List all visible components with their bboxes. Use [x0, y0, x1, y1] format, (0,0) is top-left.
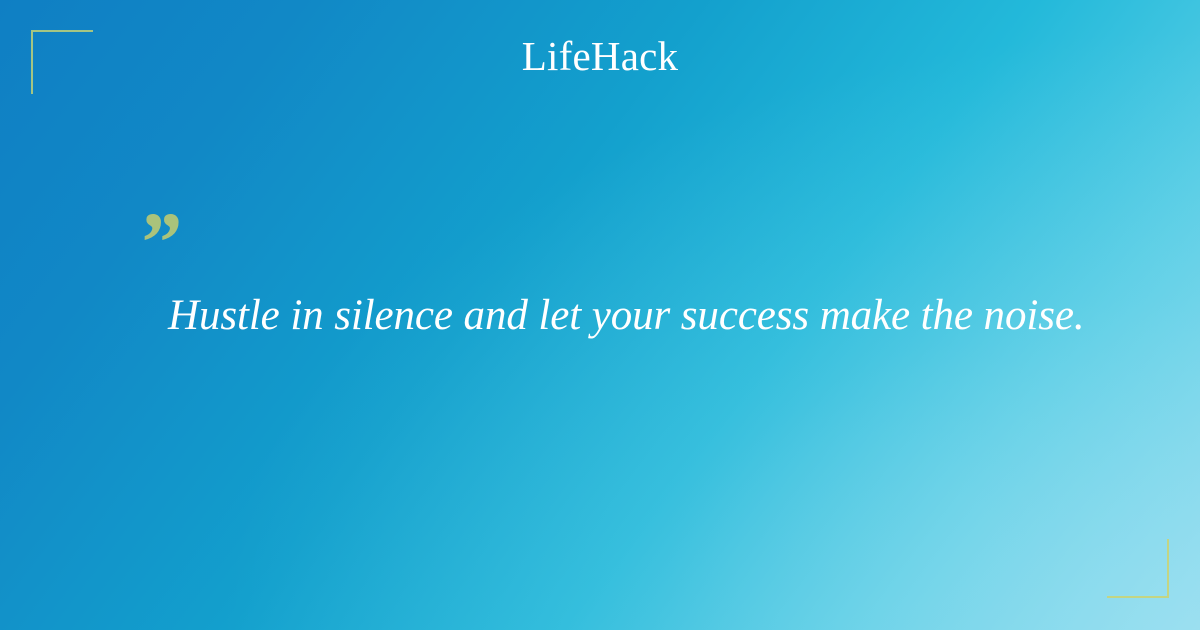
brand-logo: LifeHack — [0, 36, 1200, 77]
quote-block: ” Hustle in silence and let your success… — [135, 216, 1075, 342]
quote-card: LifeHack ” Hustle in silence and let you… — [0, 0, 1200, 630]
corner-bracket-bottom-right-icon — [1107, 539, 1169, 598]
quote-text: Hustle in silence and let your success m… — [168, 290, 1075, 342]
quotation-mark-icon: ” — [137, 216, 1075, 266]
